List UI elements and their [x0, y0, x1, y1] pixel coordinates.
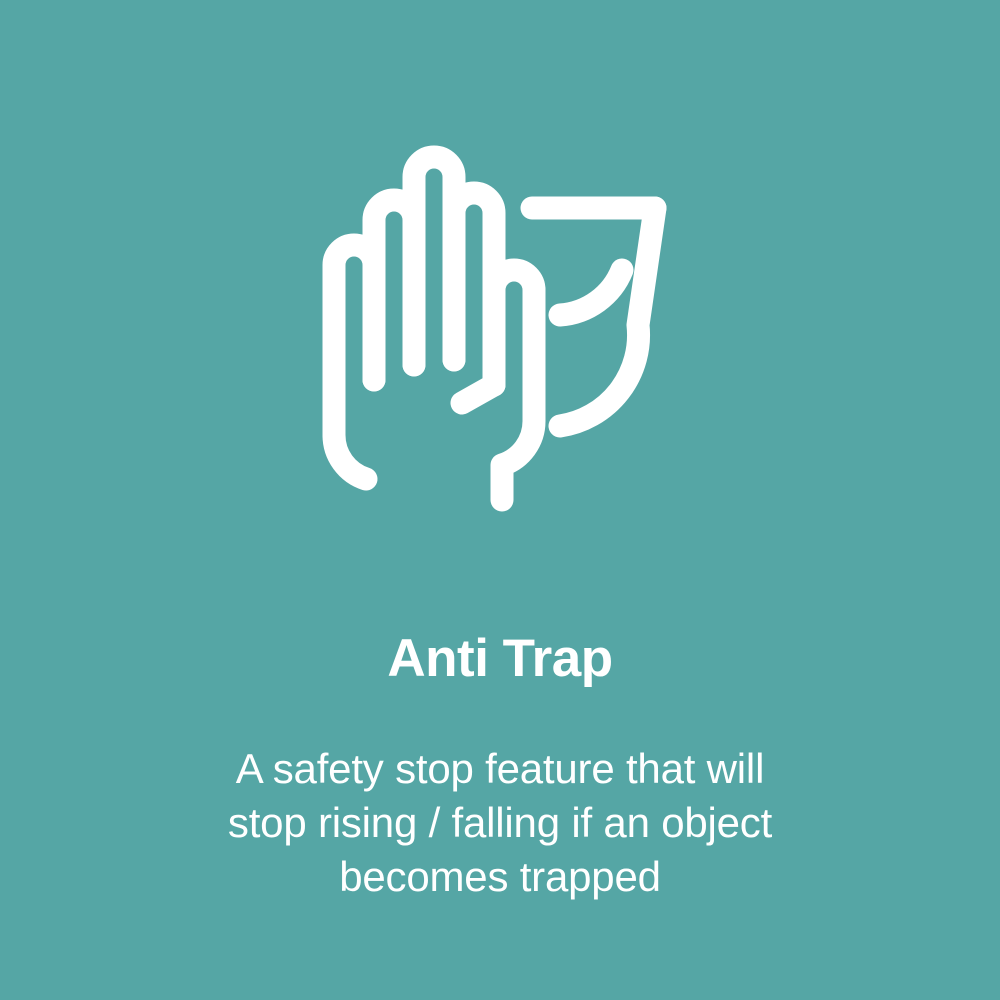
anti-trap-hand-icon: [320, 145, 680, 525]
description-line: stop rising / falling if an object: [0, 796, 1000, 850]
page-title: Anti Trap: [0, 630, 1000, 688]
feature-icon-container: [0, 140, 1000, 530]
description-line: A safety stop feature that will: [0, 742, 1000, 796]
description-line: becomes trapped: [0, 850, 1000, 904]
anti-trap-feature-card: Anti Trap A safety stop feature that wil…: [0, 0, 1000, 1000]
feature-description: A safety stop feature that will stop ris…: [0, 742, 1000, 904]
